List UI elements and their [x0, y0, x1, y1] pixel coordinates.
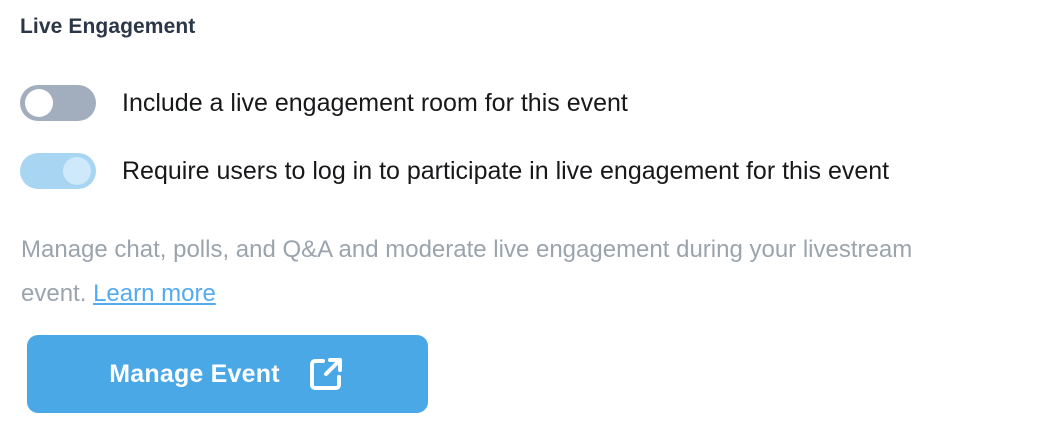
page-title: Live Engagement [20, 14, 195, 40]
manage-event-button[interactable]: Manage Event [27, 335, 428, 413]
learn-more-link[interactable]: Learn more [93, 280, 216, 307]
description-text: Manage chat, polls, and Q&A and moderate… [21, 228, 981, 316]
toggle-row-require-login: Require users to log in to participate i… [20, 153, 889, 189]
toggle-require-login-live-engagement[interactable] [20, 153, 96, 189]
manage-event-button-label: Manage Event [109, 360, 280, 389]
toggle-row-include-room: Include a live engagement room for this … [20, 85, 628, 121]
toggle-knob [25, 89, 53, 117]
live-engagement-panel: Live Engagement Include a live engagemen… [0, 0, 1040, 440]
toggle-label-include-room: Include a live engagement room for this … [122, 88, 628, 118]
external-link-icon [306, 354, 346, 394]
toggle-knob [63, 157, 91, 185]
toggle-include-live-engagement-room[interactable] [20, 85, 96, 121]
toggle-label-require-login: Require users to log in to participate i… [122, 156, 889, 186]
